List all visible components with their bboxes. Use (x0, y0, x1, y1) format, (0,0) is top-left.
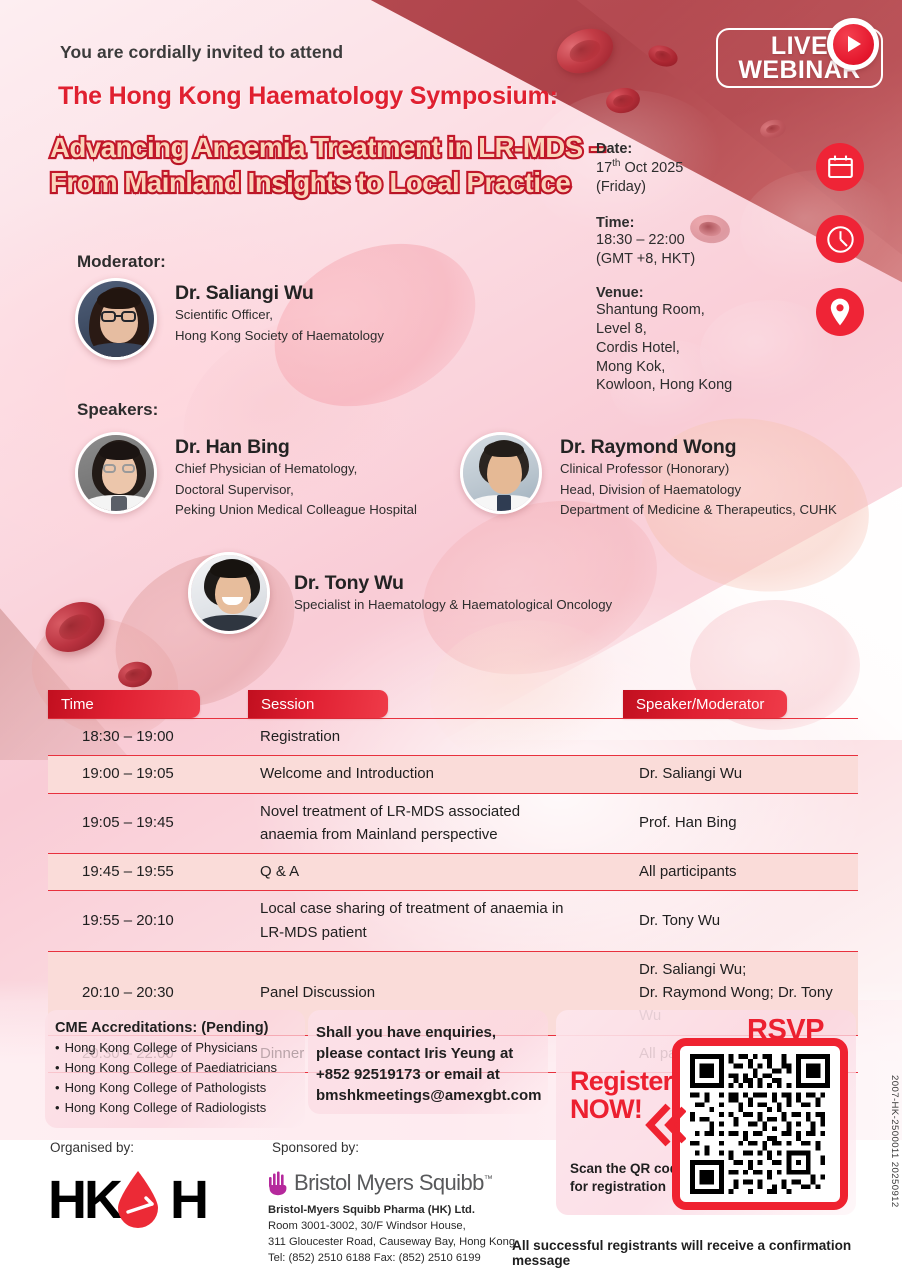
cell-speaker: Dr. Saliangi Wu (623, 756, 858, 793)
enquiries-box: Shall you have enquiries, please contact… (308, 1010, 548, 1114)
cme-title: CME Accreditations: (Pending) (55, 1020, 295, 1036)
location-pin-icon (816, 288, 864, 336)
cell-speaker (623, 719, 858, 756)
agenda-header-session: Session (248, 690, 388, 718)
chevron-left-double-icon (644, 1102, 686, 1148)
clock-icon (816, 215, 864, 263)
agenda-header-speaker: Speaker/Moderator (623, 690, 787, 718)
person-name: Dr. Raymond Wong (560, 436, 837, 458)
job-code: 2007-HK-2500011 20250912 (889, 1075, 900, 1208)
table-row: 19:55 – 20:10 Local case sharing of trea… (48, 891, 858, 952)
address-line: Bristol-Myers Squibb Pharma (HK) Ltd. (268, 1203, 568, 1219)
cell-time: 19:00 – 19:05 (48, 756, 248, 793)
invitation-line: You are cordially invited to attend (60, 42, 343, 63)
speakers-label: Speakers: (77, 400, 158, 420)
cell-session: Q & A (248, 854, 623, 891)
person-name: Dr. Han Bing (175, 436, 417, 458)
moderator-label: Moderator: (77, 252, 166, 272)
person-role-line: Specialist in Haematology & Haematologic… (294, 596, 612, 614)
poster-canvas: You are cordially invited to attend The … (0, 0, 902, 1280)
sponsor-name: Bristol Myers Squibb™ (294, 1170, 492, 1196)
bristol-myers-squibb-logo: Bristol Myers Squibb™ (268, 1168, 494, 1198)
person-speaker-han-bing: Dr. Han Bing Chief Physician of Hematolo… (75, 432, 417, 520)
list-item: Hong Kong College of Paediatricians (55, 1058, 295, 1078)
person-speaker-tony-wu: Dr. Tony Wu Specialist in Haematology & … (188, 552, 612, 634)
person-name: Dr. Tony Wu (294, 572, 612, 594)
cell-session: Welcome and Introduction (248, 756, 623, 793)
enquiry-email[interactable]: bmshkmeetings@amexgbt.com (316, 1085, 540, 1106)
venue-line: Level 8, (596, 320, 796, 339)
list-item: Hong Kong College of Radiologists (55, 1098, 295, 1118)
person-role-line: Clinical Professor (Honorary) (560, 460, 837, 478)
person-role-line: Peking Union Medical Colleague Hospital (175, 501, 417, 519)
date-label: Date: (596, 141, 796, 157)
agenda-header-row: Time Session Speaker/Moderator (48, 690, 858, 718)
person-speaker-raymond-wong: Dr. Raymond Wong Clinical Professor (Hon… (460, 432, 837, 520)
enquiry-line: Shall you have enquiries, (316, 1022, 540, 1043)
enquiry-line: +852 92519173 or email at (316, 1064, 540, 1085)
venue-line: Kowloon, Hong Kong (596, 376, 796, 395)
table-row: 19:45 – 19:55 Q & A All participants (48, 854, 858, 891)
svg-text:HK: HK (48, 1170, 123, 1230)
list-item: Hong Kong College of Physicians (55, 1038, 295, 1058)
person-role-line: Head, Division of Haematology (560, 481, 837, 499)
table-row: 19:00 – 19:05 Welcome and Introduction D… (48, 756, 858, 793)
person-role-line: Chief Physician of Hematology, (175, 460, 417, 478)
venue-label: Venue: (596, 285, 796, 301)
list-item: Hong Kong College of Pathologists (55, 1078, 295, 1098)
bms-mark-icon (268, 1170, 288, 1196)
time-value: 18:30 – 22:00 (596, 231, 796, 250)
page-title-line-2: From Mainland Insights to Local Practice (50, 165, 660, 200)
scan-instruction: Scan the QR code for registration (570, 1160, 686, 1196)
person-role-line: Doctoral Supervisor, (175, 481, 417, 499)
avatar (460, 432, 542, 514)
calendar-icon (816, 143, 864, 191)
venue-line: Shantung Room, (596, 301, 796, 320)
cme-list: Hong Kong College of Physicians Hong Kon… (55, 1038, 295, 1119)
organised-by-label: Organised by: (50, 1140, 134, 1155)
avatar (188, 552, 270, 634)
cell-time: 19:45 – 19:55 (48, 854, 248, 891)
date-day: (Friday) (596, 178, 796, 197)
confirmation-note: All successful registrants will receive … (512, 1238, 902, 1268)
cell-session: Local case sharing of treatment of anaem… (248, 891, 623, 952)
svg-text:H: H (170, 1170, 209, 1230)
agenda-header-time: Time (48, 690, 200, 718)
cell-time: 18:30 – 19:00 (48, 719, 248, 756)
time-label: Time: (596, 215, 796, 231)
rsvp-box: RSVP Register NOW! Scan the QR code for … (556, 1010, 856, 1215)
venue-line: Mong Kok, (596, 358, 796, 377)
event-date-block: Date: 17th Oct 2025 (Friday) (596, 141, 796, 197)
page-title-line-1: Advancing Anaemia Treatment in LR-MDS – (50, 130, 660, 165)
cell-time: 19:55 – 20:10 (48, 891, 248, 952)
avatar (75, 432, 157, 514)
cell-speaker: Prof. Han Bing (623, 793, 858, 854)
time-zone: (GMT +8, HKT) (596, 250, 796, 269)
play-icon (827, 18, 879, 70)
venue-line: Cordis Hotel, (596, 339, 796, 358)
cell-speaker: All participants (623, 854, 858, 891)
person-name: Dr. Saliangi Wu (175, 282, 384, 304)
address-line: Room 3001-3002, 30/F Windsor House, (268, 1219, 568, 1235)
event-venue-block: Venue: Shantung Room, Level 8, Cordis Ho… (596, 285, 796, 395)
table-row: 19:05 – 19:45 Novel treatment of LR-MDS … (48, 793, 858, 854)
avatar (75, 278, 157, 360)
table-row: 18:30 – 19:00 Registration (48, 719, 858, 756)
cell-speaker: Dr. Tony Wu (623, 891, 858, 952)
event-time-block: Time: 18:30 – 22:00 (GMT +8, HKT) (596, 215, 796, 269)
sponsored-by-label: Sponsored by: (272, 1140, 359, 1155)
cell-session: Registration (248, 719, 623, 756)
page-title: Advancing Anaemia Treatment in LR-MDS – … (50, 130, 660, 200)
person-role-line: Department of Medicine & Therapeutics, C… (560, 501, 837, 519)
symposium-name: The Hong Kong Haematology Symposium: (58, 82, 558, 111)
enquiry-line: please contact Iris Yeung at (316, 1043, 540, 1064)
date-value: 17th Oct 2025 (596, 157, 796, 178)
cell-time: 19:05 – 19:45 (48, 793, 248, 854)
person-role-line: Hong Kong Society of Haematology (175, 327, 384, 345)
hksh-logo: HK H (48, 1168, 210, 1230)
cell-session: Novel treatment of LR-MDS associated ana… (248, 793, 623, 854)
person-moderator: Dr. Saliangi Wu Scientific Officer, Hong… (75, 278, 384, 360)
qr-code-icon[interactable] (672, 1038, 848, 1210)
cme-accreditations-box: CME Accreditations: (Pending) Hong Kong … (45, 1010, 305, 1128)
person-role-line: Scientific Officer, (175, 306, 384, 324)
